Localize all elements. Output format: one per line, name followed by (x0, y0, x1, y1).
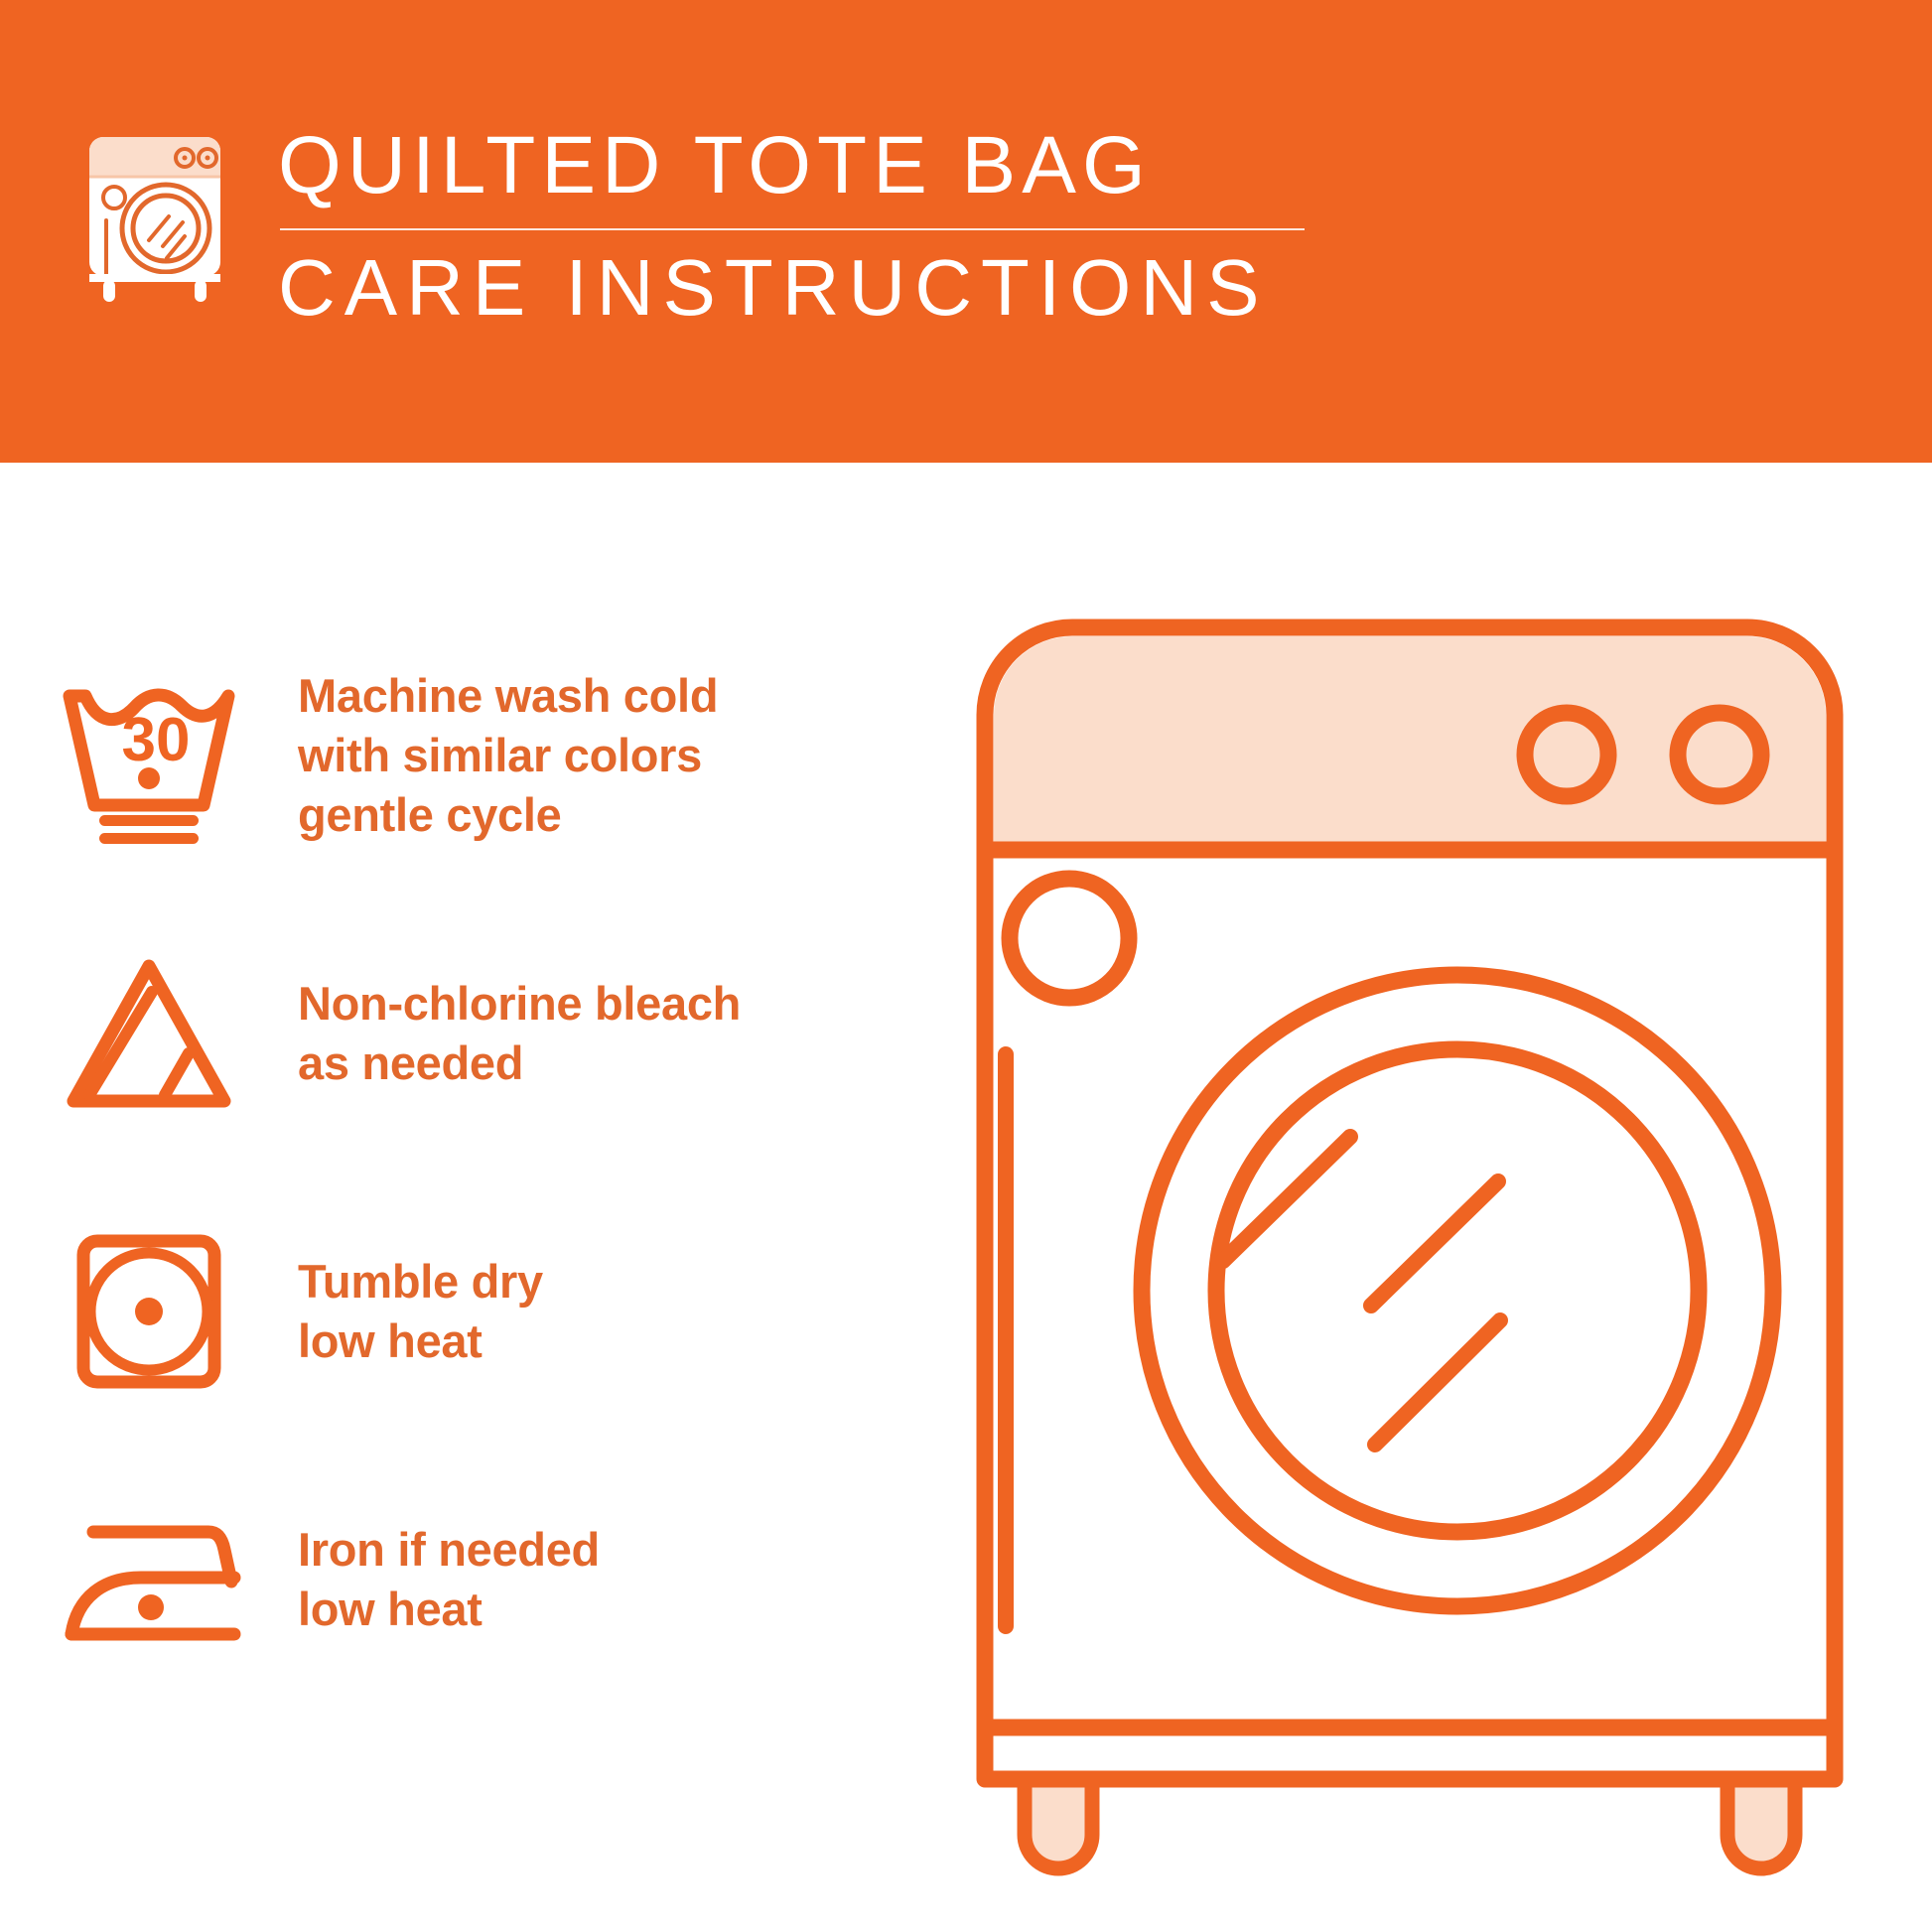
tumble-dry-low-icon (0, 1222, 298, 1401)
care-row-wash: 30 Machine wash cold with similar colors… (0, 641, 933, 870)
care-label-tumble-dry: Tumble dry low heat (298, 1252, 543, 1371)
care-label-iron: Iron if needed low heat (298, 1520, 600, 1639)
page-subtitle: CARE INSTRUCTIONS (278, 248, 1311, 328)
title-divider (280, 228, 1305, 230)
iron-low-heat-icon (0, 1490, 298, 1669)
care-label-bleach: Non-chlorine bleach as needed (298, 974, 741, 1093)
wash-tub-30-icon: 30 (0, 666, 298, 845)
washing-machine-icon (81, 129, 228, 303)
care-row-tumble-dry: Tumble dry low heat (0, 1197, 933, 1426)
header-banner: QUILTED TOTE BAG CARE INSTRUCTIONS (0, 0, 1932, 463)
wash-temp-value: 30 (122, 706, 191, 774)
header-text-block: QUILTED TOTE BAG CARE INSTRUCTIONS (278, 125, 1311, 328)
care-instruction-list: 30 Machine wash cold with similar colors… (0, 463, 933, 1932)
care-row-iron: Iron if needed low heat (0, 1465, 933, 1694)
bleach-triangle-icon (0, 944, 298, 1123)
care-row-bleach: Non-chlorine bleach as needed (0, 919, 933, 1148)
care-instructions-page: QUILTED TOTE BAG CARE INSTRUCTIONS 30 Ma… (0, 0, 1932, 1932)
washing-machine-illustration (953, 596, 1866, 1906)
page-title: QUILTED TOTE BAG (278, 125, 1311, 207)
care-label-wash: Machine wash cold with similar colors ge… (298, 666, 718, 845)
